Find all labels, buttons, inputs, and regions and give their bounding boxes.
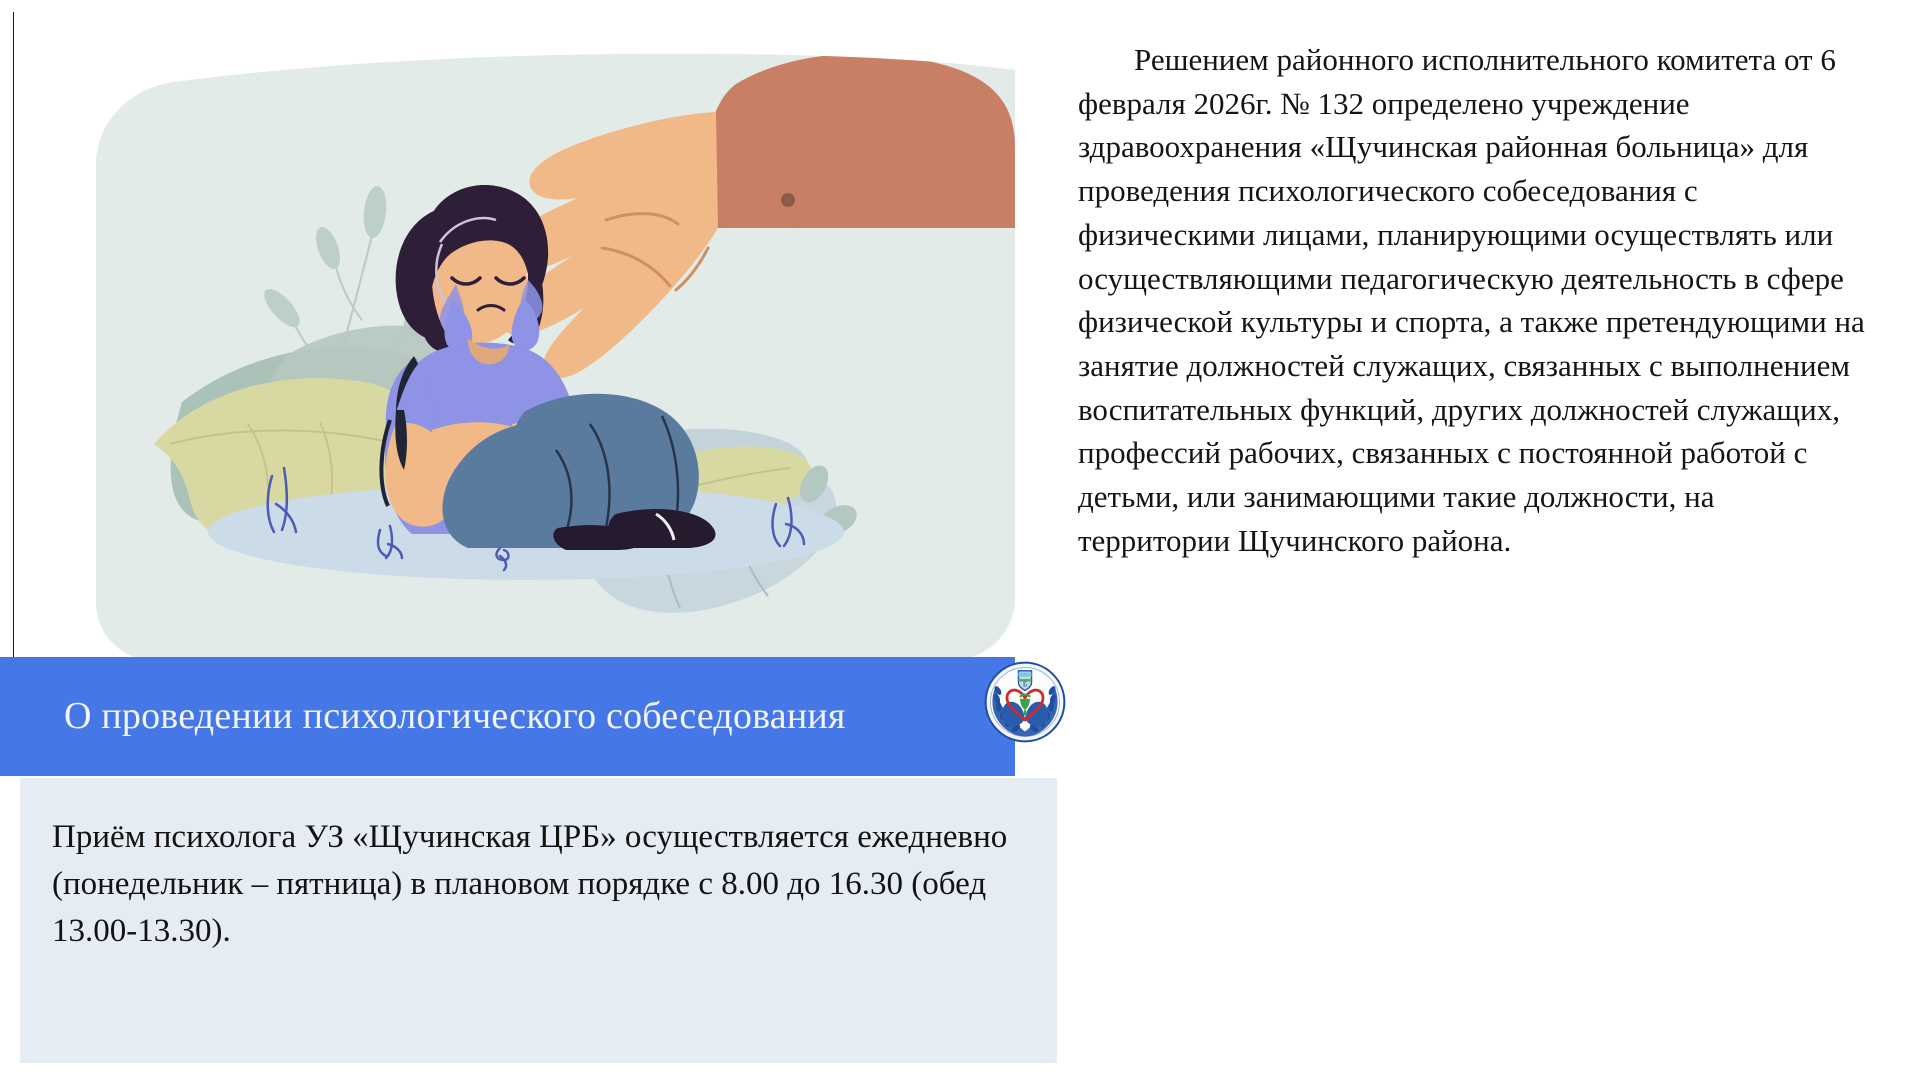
svg-text:Б: Б (1023, 679, 1027, 688)
page-title: О проведении психологического собеседова… (0, 696, 846, 738)
decision-paragraph: Решением районного исполнительного комит… (1078, 38, 1868, 562)
schedule-info-text: Приём психолога УЗ «Щучинская ЦРБ» осуще… (52, 814, 1012, 955)
title-band: О проведении психологического собеседова… (0, 657, 1015, 776)
helping-hand-sad-woman-illustration (96, 52, 1015, 662)
schedule-info-panel: Приём психолога УЗ «Щучинская ЦРБ» осуще… (20, 778, 1057, 1063)
left-vertical-rule (13, 12, 14, 660)
ministry-of-health-emblem-icon: Б (984, 661, 1066, 743)
